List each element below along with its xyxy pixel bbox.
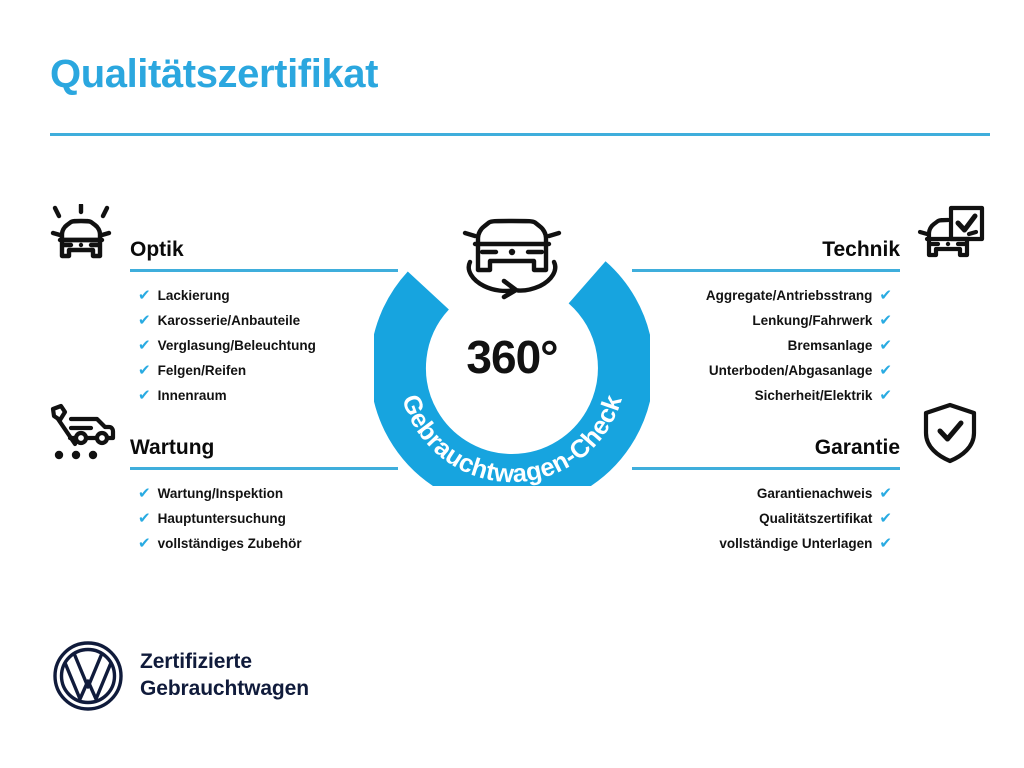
check-icon: ✔: [879, 338, 892, 353]
optik-check-list: ✔ Lackierung ✔ Karosserie/Anbauteile ✔ V…: [20, 272, 380, 408]
section-garantie-header: Garantie: [644, 398, 1004, 470]
section-technik-underline: [632, 269, 900, 272]
check-icon: ✔: [138, 313, 151, 328]
footer-line-2: Gebrauchtwagen: [140, 676, 309, 703]
section-wartung-title-wrap: Wartung: [130, 437, 380, 470]
certificate-page: Qualitätszertifikat: [0, 0, 1024, 768]
section-wartung-header: Wartung: [20, 398, 380, 470]
garantie-check-list: Garantienachweis ✔ Qualitätszertifikat ✔…: [644, 470, 1004, 556]
section-optik-underline: [130, 269, 398, 272]
check-icon: ✔: [138, 536, 151, 551]
section-garantie: Garantie Garantienachweis ✔ Qualitätszer…: [644, 398, 1004, 556]
footer-text: Zertifizierte Gebrauchtwagen: [140, 649, 309, 703]
check-icon: ✔: [879, 313, 892, 328]
list-item-label: Verglasung/Beleuchtung: [158, 339, 316, 353]
footer-line-1: Zertifizierte: [140, 649, 309, 676]
check-icon: ✔: [879, 511, 892, 526]
footer: Zertifizierte Gebrauchtwagen: [52, 640, 309, 712]
check-icon: ✔: [879, 486, 892, 501]
list-item-label: vollständige Unterlagen: [719, 537, 872, 551]
car-front-shine-icon: [38, 200, 126, 270]
check-icon: ✔: [879, 363, 892, 378]
badge-center-value: 360°: [374, 334, 650, 380]
list-item-label: Bremsanlage: [788, 339, 873, 353]
section-optik: Optik ✔ Lackierung ✔ Karosserie/Anbautei…: [20, 200, 380, 408]
list-item: ✔ Wartung/Inspektion: [138, 481, 380, 506]
list-item: Aggregate/Antriebsstrang ✔: [644, 283, 892, 308]
section-garantie-underline: [632, 467, 900, 470]
section-wartung-underline: [130, 467, 398, 470]
check-icon: ✔: [879, 288, 892, 303]
section-technik: Technik Aggregate/Antriebsstrang ✔ Lenku…: [644, 200, 1004, 408]
check-icon: ✔: [879, 536, 892, 551]
list-item: ✔ Hauptuntersuchung: [138, 506, 380, 531]
section-garantie-title-wrap: Garantie: [650, 437, 900, 470]
list-item-label: Lenkung/Fahrwerk: [752, 314, 872, 328]
wrench-car-service-icon: [38, 398, 126, 468]
list-item-label: Karosserie/Anbauteile: [158, 314, 301, 328]
section-wartung: Wartung ✔ Wartung/Inspektion ✔ Hauptunte…: [20, 398, 380, 556]
list-item-label: Felgen/Reifen: [158, 364, 247, 378]
check-icon: ✔: [138, 363, 151, 378]
list-item-label: vollständiges Zubehör: [158, 537, 302, 551]
list-item-label: Lackierung: [158, 289, 230, 303]
list-item: Unterboden/Abgasanlage ✔: [644, 358, 892, 383]
list-item: ✔ Karosserie/Anbauteile: [138, 308, 380, 333]
list-item-label: Garantienachweis: [757, 487, 873, 501]
shield-check-icon: [906, 398, 994, 468]
section-garantie-title: Garantie: [650, 437, 900, 467]
check-icon: ✔: [138, 338, 151, 353]
section-optik-title: Optik: [130, 239, 380, 269]
section-technik-header: Technik: [644, 200, 1004, 272]
section-wartung-title: Wartung: [130, 437, 380, 467]
car-front-checkbox-icon: [906, 200, 994, 270]
list-item-label: Qualitätszertifikat: [759, 512, 872, 526]
check-icon: ✔: [138, 288, 151, 303]
section-technik-title-wrap: Technik: [650, 239, 900, 272]
gebrauchtwagen-check-badge: Gebrauchtwagen-Check 360°: [374, 196, 650, 486]
list-item-label: Hauptuntersuchung: [158, 512, 286, 526]
list-item: ✔ Lackierung: [138, 283, 380, 308]
technik-check-list: Aggregate/Antriebsstrang ✔ Lenkung/Fahrw…: [644, 272, 1004, 408]
check-icon: ✔: [138, 486, 151, 501]
list-item-label: Wartung/Inspektion: [158, 487, 284, 501]
list-item: ✔ Verglasung/Beleuchtung: [138, 333, 380, 358]
list-item: Bremsanlage ✔: [644, 333, 892, 358]
section-optik-header: Optik: [20, 200, 380, 272]
wartung-check-list: ✔ Wartung/Inspektion ✔ Hauptuntersuchung…: [20, 470, 380, 556]
section-optik-title-wrap: Optik: [130, 239, 380, 272]
list-item-label: Unterboden/Abgasanlage: [709, 364, 873, 378]
car-360-rotation-icon: [465, 221, 559, 297]
check-icon: ✔: [138, 511, 151, 526]
section-technik-title: Technik: [650, 239, 900, 269]
list-item: ✔ Felgen/Reifen: [138, 358, 380, 383]
list-item: vollständige Unterlagen ✔: [644, 531, 892, 556]
volkswagen-logo: [52, 640, 124, 712]
list-item-label: Aggregate/Antriebsstrang: [706, 289, 873, 303]
header-divider: [50, 133, 990, 136]
list-item: Lenkung/Fahrwerk ✔: [644, 308, 892, 333]
page-title: Qualitätszertifikat: [50, 52, 378, 96]
list-item: ✔ vollständiges Zubehör: [138, 531, 380, 556]
list-item: Garantienachweis ✔: [644, 481, 892, 506]
list-item: Qualitätszertifikat ✔: [644, 506, 892, 531]
